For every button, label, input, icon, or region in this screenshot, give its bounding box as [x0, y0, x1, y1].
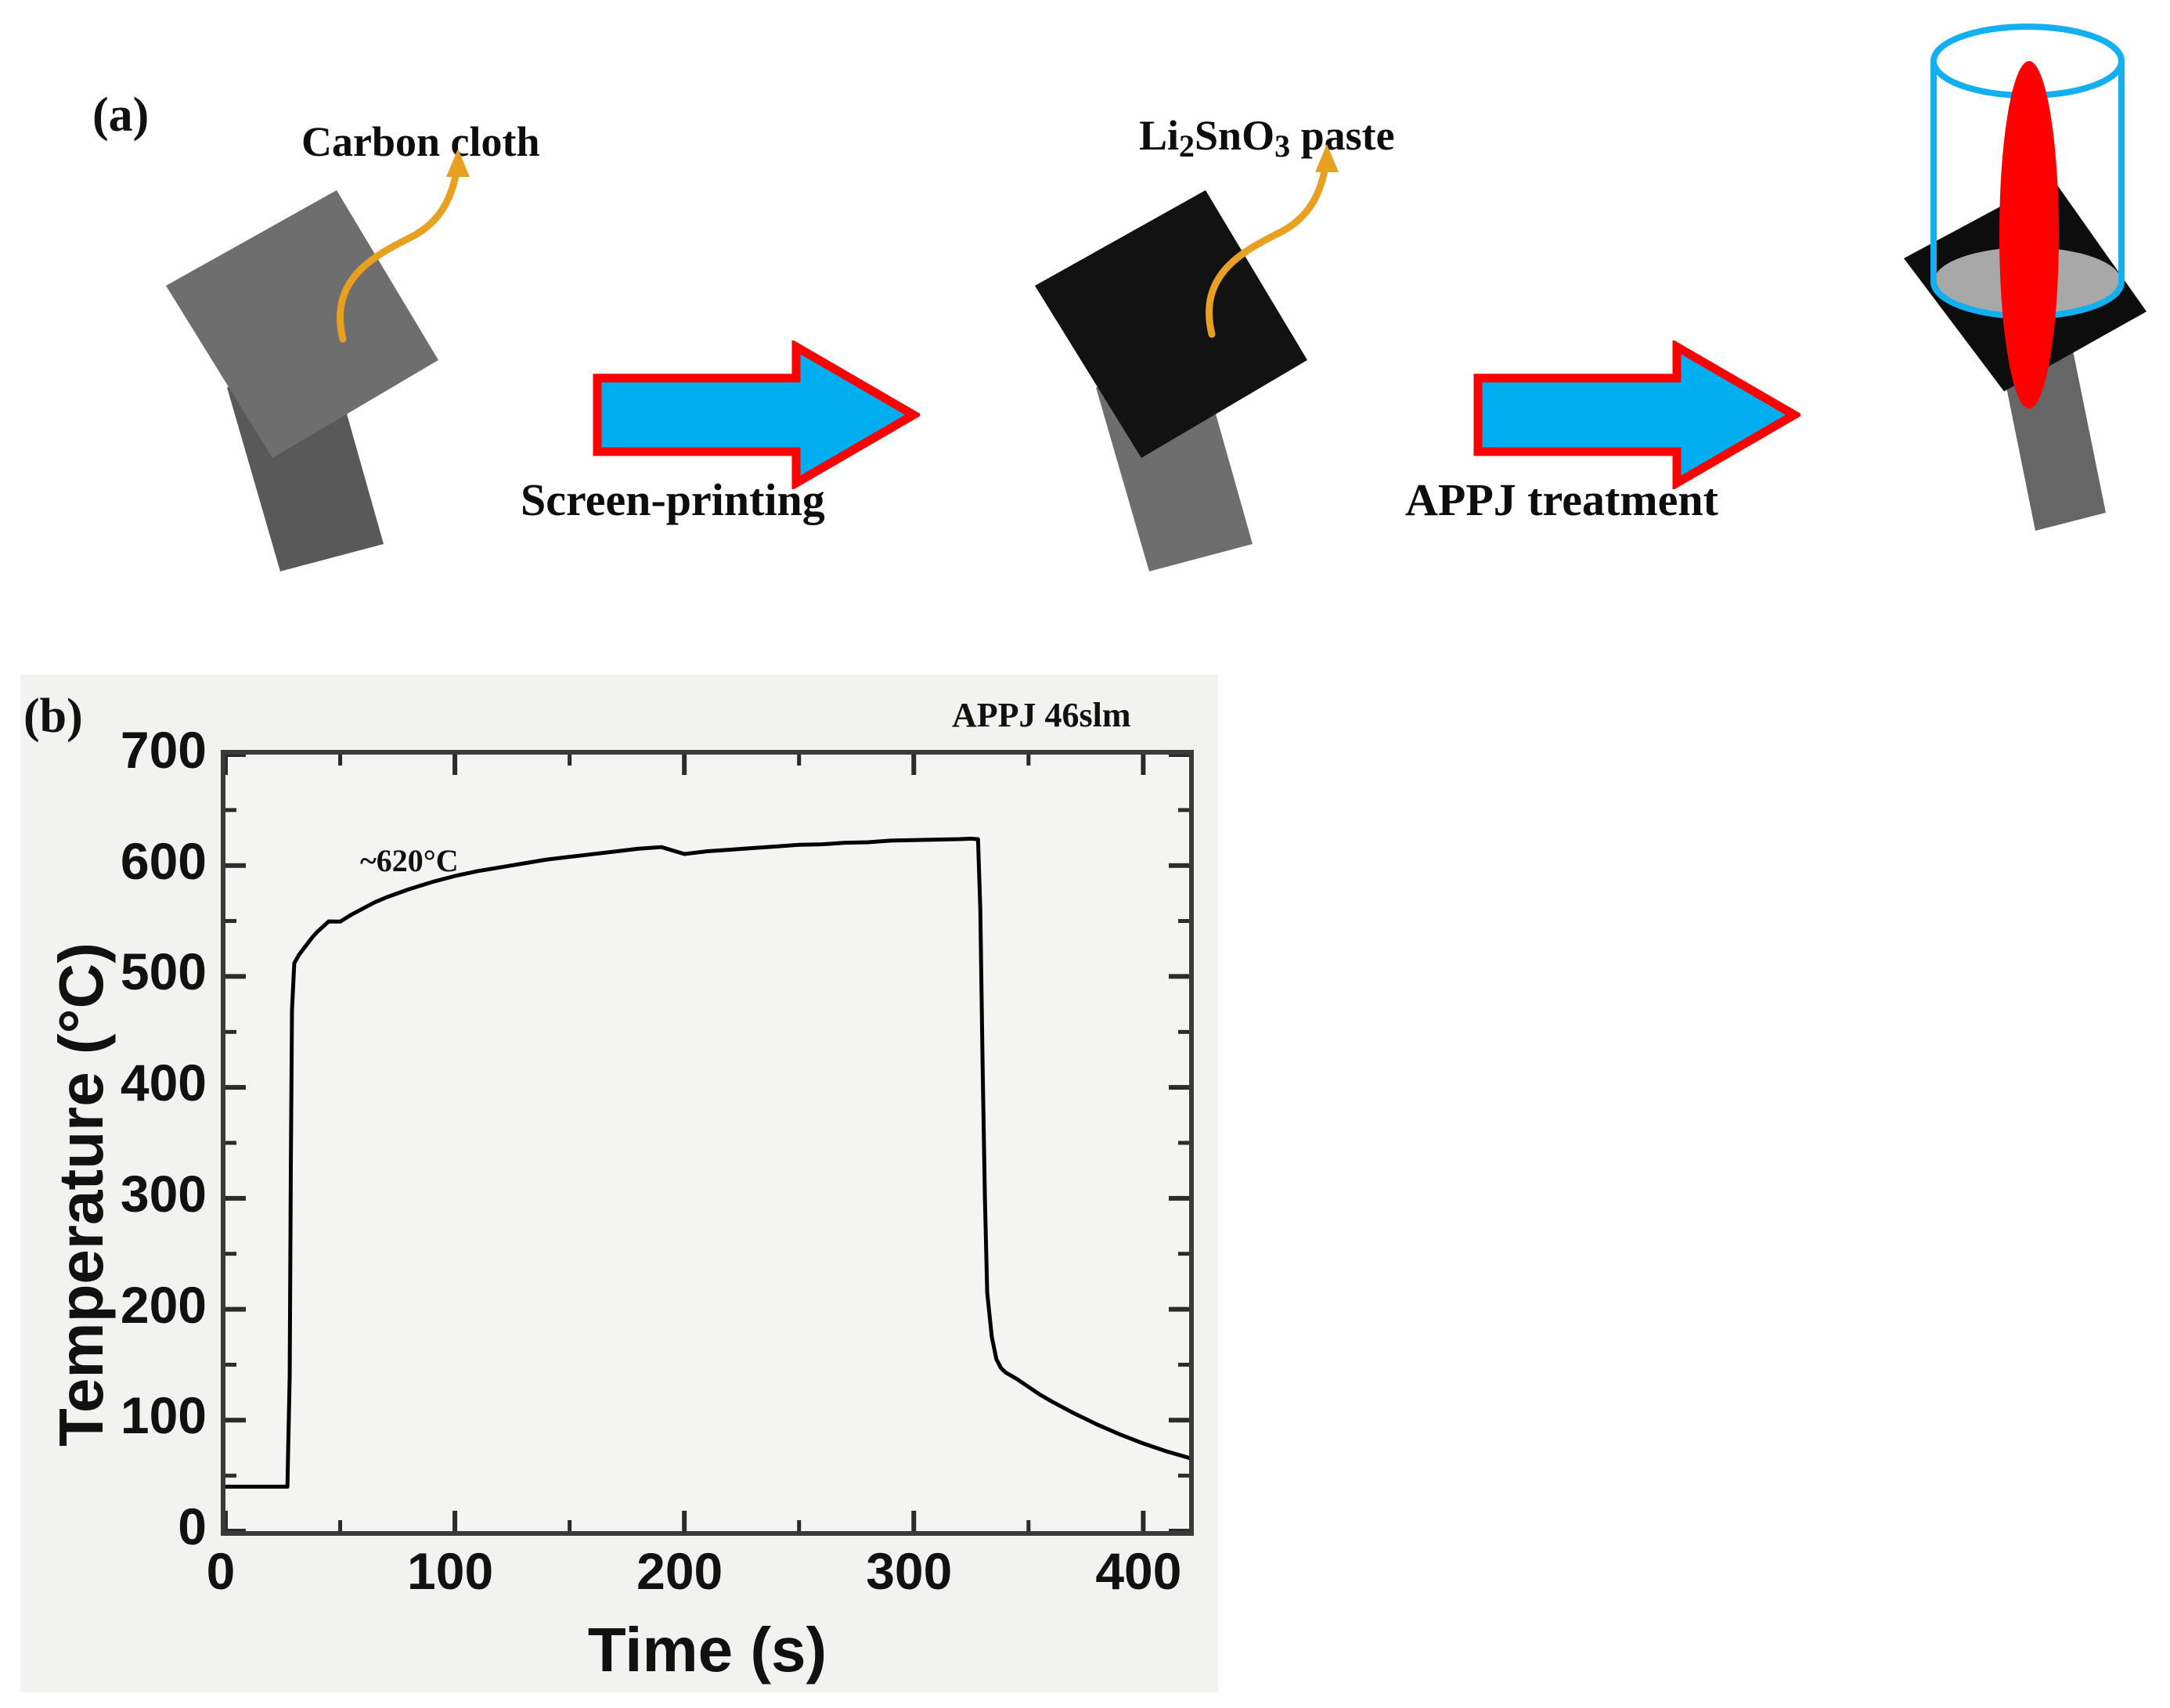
plasma-plume-icon [1999, 61, 2059, 409]
carbon-cloth-pointer-icon [297, 139, 524, 366]
y-axis-title: Temperature (°C) [45, 772, 117, 1617]
panel-b-temperature-chart: (b) APPJ 46slm 0100200300400500600700 01… [20, 675, 1218, 1692]
x-axis-title: Time (s) [221, 1614, 1194, 1686]
screen-printing-arrow [591, 341, 920, 489]
appj-treatment-arrow [1472, 341, 1801, 489]
x-tick-label: 100 [407, 1545, 493, 1597]
plot-frame: ~620°C [221, 750, 1194, 1536]
x-tick-label: 200 [636, 1545, 723, 1597]
temperature-curve-svg [225, 755, 1189, 1531]
y-tick-label: 200 [121, 1279, 207, 1331]
paste-pointer-icon [1166, 135, 1393, 362]
x-tick-label: 300 [866, 1545, 952, 1597]
appj-treatment-svg [1871, 0, 2170, 595]
appj-treated-sample [1871, 0, 2170, 595]
series-line-0 [225, 838, 1189, 1486]
panel-a-process-schematic: (a) Carbon cloth Li2SnO3 paste Screen-pr… [0, 0, 2170, 650]
y-tick-label: 100 [121, 1389, 207, 1441]
panel-a-tag: (a) [92, 88, 149, 143]
y-tick-label: 700 [121, 724, 207, 776]
y-tick-label: 600 [121, 835, 207, 887]
y-tick-label: 500 [121, 946, 207, 997]
right-arrow-icon [591, 341, 920, 489]
y-tick-label: 400 [121, 1057, 207, 1108]
y-tick-label: 300 [121, 1168, 207, 1220]
x-tick-label: 0 [207, 1545, 236, 1597]
x-tick-label: 400 [1095, 1545, 1181, 1597]
chart-title: APPJ 46slm [952, 695, 1131, 735]
right-arrow-icon [1472, 341, 1801, 489]
x-axis-tick-labels: 0100200300400 [20, 1545, 1218, 1616]
